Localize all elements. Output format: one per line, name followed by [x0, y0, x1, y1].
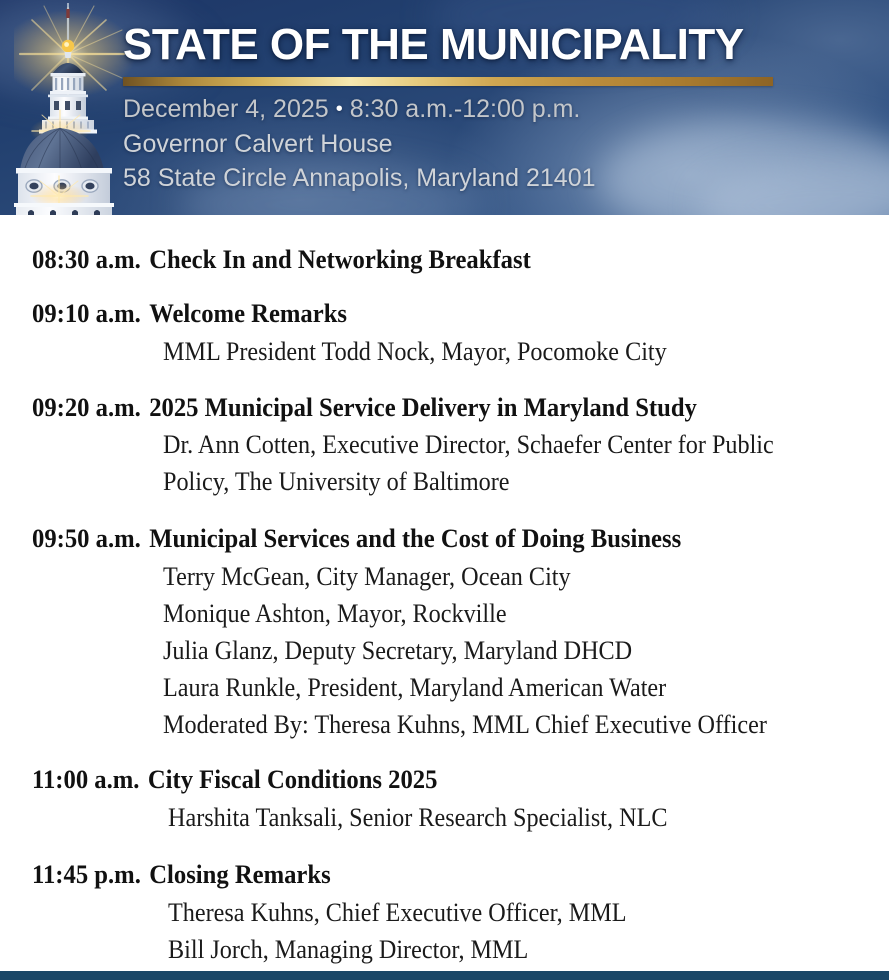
agenda-item: 09:10 a.m.Welcome Remarks MML President … — [0, 298, 889, 371]
agenda-title: Welcome Remarks — [149, 298, 347, 328]
agenda-speaker: Policy, The University of Baltimore — [163, 464, 820, 501]
venue-address: 58 State Circle Annapolis, Maryland 2140… — [123, 164, 863, 193]
agenda-headline: 09:20 a.m.2025 Municipal Service Deliver… — [32, 392, 810, 424]
agenda-speaker-list: Harshita Tanksali, Senior Research Speci… — [32, 800, 869, 837]
agenda-speaker: Terry McGean, City Manager, Ocean City — [163, 559, 820, 596]
agenda-speaker: Dr. Ann Cotten, Executive Director, Scha… — [163, 427, 820, 464]
agenda-title: Municipal Services and the Cost of Doing… — [149, 523, 681, 553]
banner-text-group: STATE OF THE MUNICIPALITY December 4, 20… — [123, 22, 863, 193]
agenda-speaker-list: Dr. Ann Cotten, Executive Director, Scha… — [32, 427, 869, 501]
agenda-time: 09:50 a.m. — [32, 523, 141, 553]
agenda-speaker: Laura Runkle, President, Maryland Americ… — [163, 670, 820, 707]
agenda-list: 08:30 a.m.Check In and Networking Breakf… — [0, 215, 889, 969]
agenda-headline: 09:10 a.m.Welcome Remarks — [32, 298, 810, 330]
event-datetime-line: December 4, 2025•8:30 a.m.-12:00 p.m. — [123, 95, 863, 124]
agenda-title: Check In and Networking Breakfast — [149, 244, 531, 274]
agenda-title: Closing Remarks — [149, 859, 330, 889]
bullet-separator-icon: • — [329, 98, 350, 120]
agenda-time: 11:00 a.m. — [32, 764, 139, 794]
agenda-headline: 09:50 a.m.Municipal Services and the Cos… — [32, 523, 810, 555]
footer-accent-bar — [0, 971, 889, 980]
gold-divider-rule — [123, 77, 773, 86]
agenda-speaker-list: MML President Todd Nock, Mayor, Pocomoke… — [32, 334, 869, 371]
event-title: STATE OF THE MUNICIPALITY — [123, 22, 863, 69]
agenda-speaker: Theresa Kuhns, Chief Executive Officer, … — [168, 895, 820, 932]
agenda-time: 09:20 a.m. — [32, 392, 141, 422]
agenda-speaker-list: Theresa Kuhns, Chief Executive Officer, … — [32, 895, 869, 969]
agenda-speaker: Harshita Tanksali, Senior Research Speci… — [168, 800, 820, 837]
agenda-headline: 11:00 a.m.City Fiscal Conditions 2025 — [32, 764, 810, 796]
agenda-headline: 08:30 a.m.Check In and Networking Breakf… — [32, 244, 810, 276]
agenda-title: 2025 Municipal Service Delivery in Maryl… — [149, 392, 697, 422]
agenda-title: City Fiscal Conditions 2025 — [148, 764, 438, 794]
agenda-time: 11:45 p.m. — [32, 859, 141, 889]
agenda-item: 09:20 a.m.2025 Municipal Service Deliver… — [0, 392, 889, 502]
venue-name: Governor Calvert House — [123, 130, 863, 159]
agenda-speaker: MML President Todd Nock, Mayor, Pocomoke… — [163, 334, 820, 371]
event-agenda-page: STATE OF THE MUNICIPALITY December 4, 20… — [0, 0, 889, 980]
agenda-headline: 11:45 p.m.Closing Remarks — [32, 859, 810, 891]
agenda-speaker: Julia Glanz, Deputy Secretary, Maryland … — [163, 633, 820, 670]
agenda-speaker-list: Terry McGean, City Manager, Ocean City M… — [32, 559, 869, 744]
agenda-speaker: Moderated By: Theresa Kuhns, MML Chief E… — [163, 707, 820, 744]
event-date: December 4, 2025 — [123, 95, 329, 123]
agenda-item: 09:50 a.m.Municipal Services and the Cos… — [0, 523, 889, 743]
agenda-item: 08:30 a.m.Check In and Networking Breakf… — [0, 244, 889, 276]
agenda-time: 09:10 a.m. — [32, 298, 141, 328]
agenda-speaker: Monique Ashton, Mayor, Rockville — [163, 596, 820, 633]
agenda-time: 08:30 a.m. — [32, 244, 141, 274]
agenda-item: 11:00 a.m.City Fiscal Conditions 2025 Ha… — [0, 764, 889, 837]
event-header-banner: STATE OF THE MUNICIPALITY December 4, 20… — [0, 0, 889, 215]
event-time: 8:30 a.m.-12:00 p.m. — [350, 95, 581, 123]
agenda-speaker: Bill Jorch, Managing Director, MML — [168, 932, 820, 969]
agenda-item: 11:45 p.m.Closing Remarks Theresa Kuhns,… — [0, 859, 889, 969]
